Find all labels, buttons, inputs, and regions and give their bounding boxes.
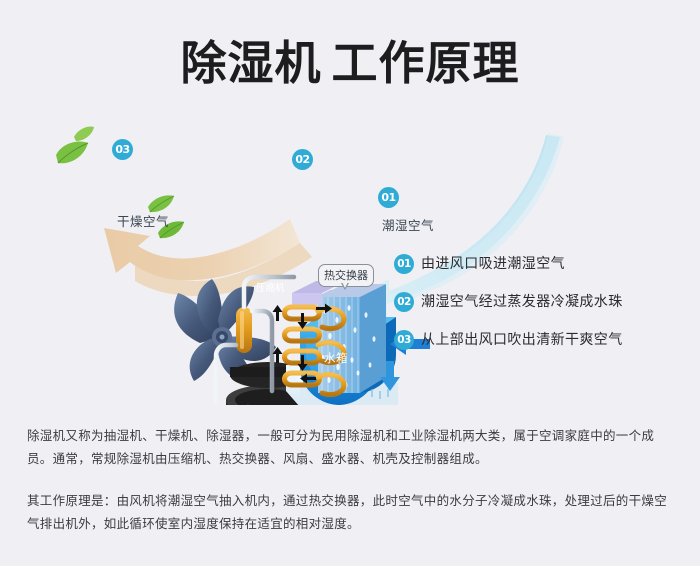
label-compressor: 压缩机 bbox=[256, 280, 285, 294]
paragraph-1: 除湿机又称为抽湿机、干燥机、除湿器，一般可分为民用除湿机和工业除湿机两大类，属于… bbox=[27, 424, 677, 470]
principle-steps-list: 01 由进风口吸进潮湿空气 02 潮湿空气经过蒸发器冷凝成水珠 03 从上部出风… bbox=[394, 252, 694, 366]
list-item: 02 潮湿空气经过蒸发器冷凝成水珠 bbox=[394, 290, 694, 328]
callout-tail-inner bbox=[342, 282, 348, 288]
step-number-badge: 03 bbox=[394, 330, 414, 350]
step-text: 从上部出风口吹出清新干爽空气 bbox=[421, 329, 623, 349]
title-part-1: 除湿机 bbox=[181, 34, 322, 92]
paragraph-2: 其工作原理是：由风机将潮湿空气抽入机内，通过热交换器，此时空气中的水分子冷凝成水… bbox=[27, 489, 677, 535]
title-part-2: 工作原理 bbox=[332, 34, 520, 92]
step-number-badge: 02 bbox=[394, 292, 414, 312]
label-water-tank: 水箱 bbox=[324, 350, 348, 366]
page-root: 除湿机工作原理 bbox=[0, 0, 700, 566]
badge-01: 01 bbox=[378, 187, 399, 208]
description-text: 除湿机又称为抽湿机、干燥机、除湿器，一般可分为民用除湿机和工业除湿机两大类，属于… bbox=[27, 424, 677, 535]
label-humid-air: 潮湿空气 bbox=[382, 215, 434, 234]
badge-03: 03 bbox=[112, 139, 133, 160]
list-item: 03 从上部出风口吹出清新干爽空气 bbox=[394, 328, 694, 366]
label-dry-air: 干燥空气 bbox=[117, 211, 169, 230]
list-item: 01 由进风口吸进潮湿空气 bbox=[394, 252, 694, 290]
step-text: 由进风口吸进潮湿空气 bbox=[421, 253, 565, 273]
step-number-badge: 01 bbox=[394, 254, 414, 274]
step-text: 潮湿空气经过蒸发器冷凝成水珠 bbox=[421, 291, 623, 311]
page-title: 除湿机工作原理 bbox=[0, 34, 700, 92]
badge-02: 02 bbox=[292, 149, 313, 170]
accumulator bbox=[236, 307, 252, 353]
